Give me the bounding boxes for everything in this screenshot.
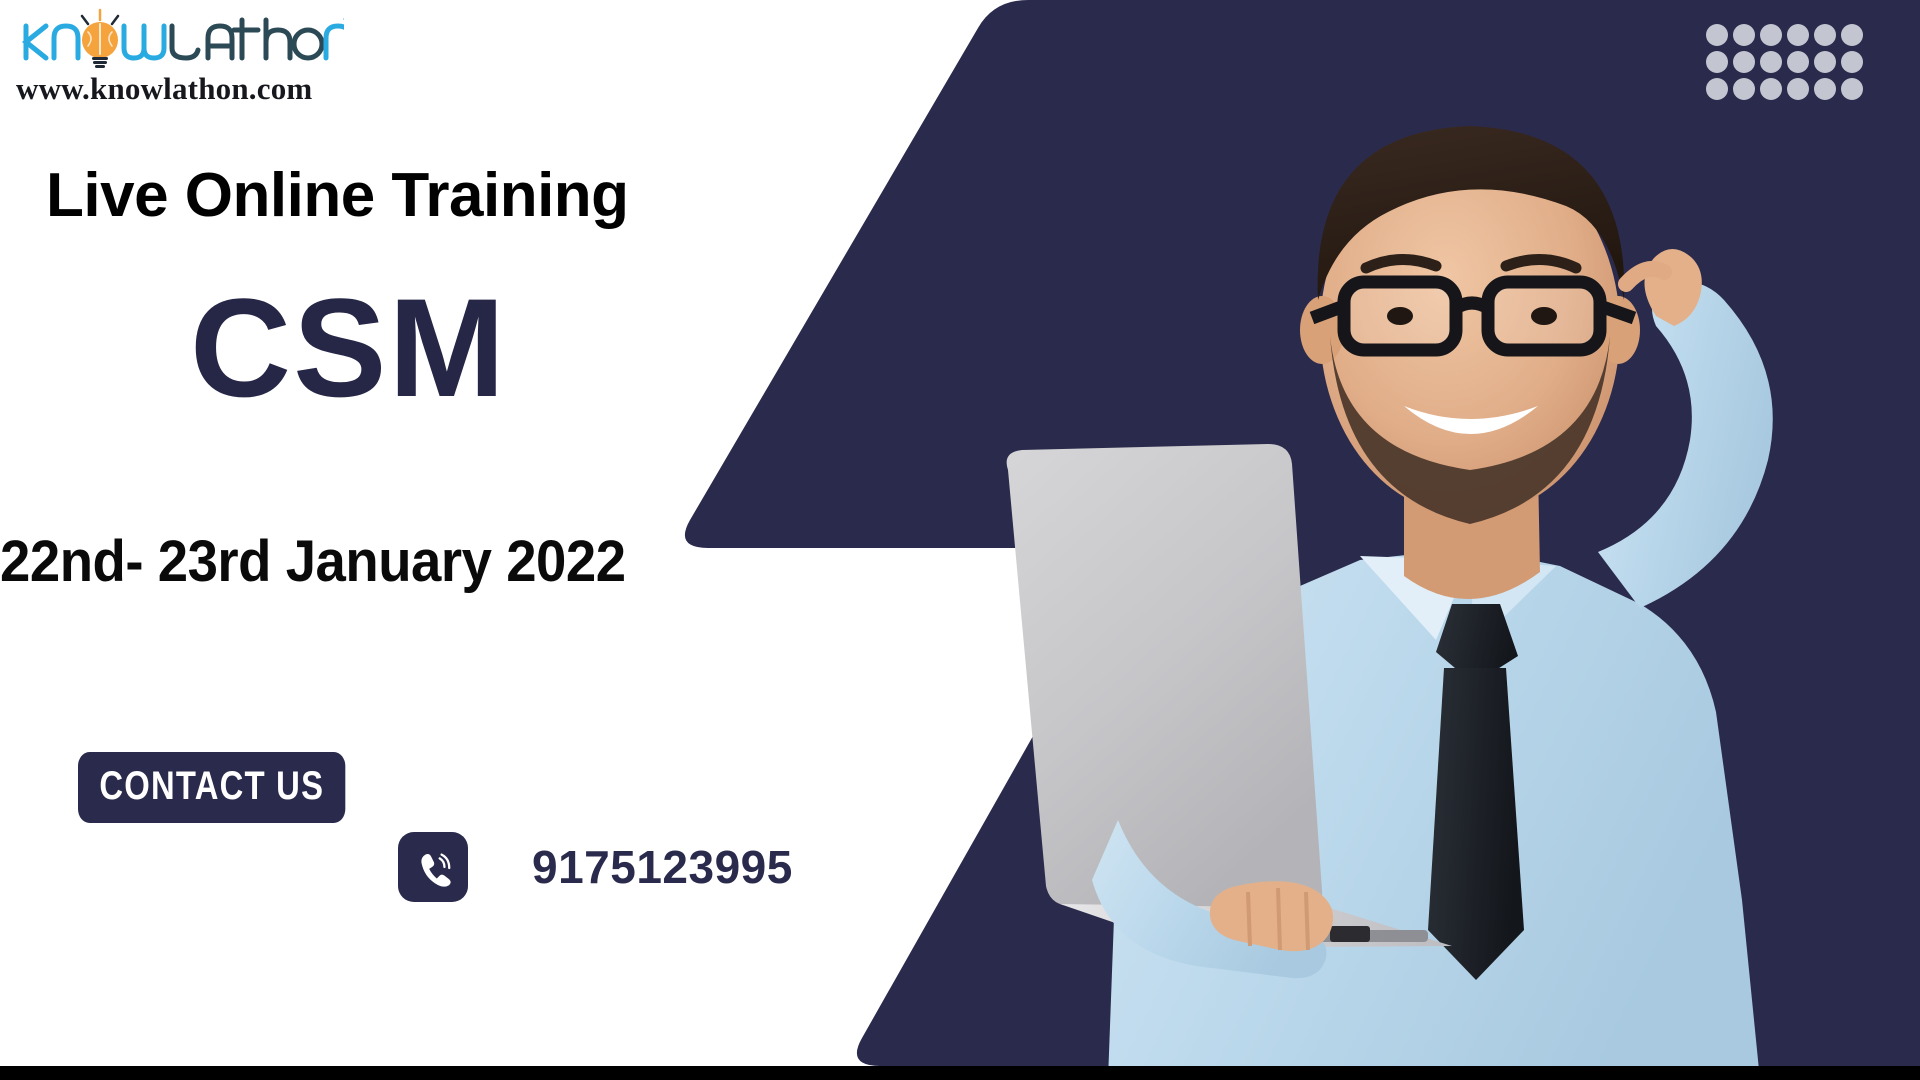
eye-left bbox=[1387, 307, 1413, 325]
finger-line bbox=[1248, 892, 1250, 946]
collar-right bbox=[1470, 560, 1556, 650]
laptop-lid bbox=[1007, 444, 1323, 910]
laptop-base bbox=[1060, 904, 1452, 948]
page-title: Live Online Training bbox=[46, 160, 629, 231]
grid-dot bbox=[1706, 51, 1728, 73]
phone-contact-row[interactable]: 9175123995 bbox=[398, 832, 793, 902]
teeth bbox=[1404, 406, 1538, 434]
brand-logo[interactable]: www.knowlathon.com bbox=[14, 8, 354, 107]
laptop-ports bbox=[1198, 930, 1428, 942]
hair bbox=[1318, 126, 1625, 300]
grid-dot bbox=[1706, 24, 1728, 46]
businessman-laptop-photo bbox=[1000, 0, 1920, 1080]
eye-right bbox=[1531, 307, 1557, 325]
brain-lightbulb-icon bbox=[82, 10, 118, 68]
ear-left bbox=[1300, 296, 1344, 364]
course-code: CSM bbox=[190, 278, 507, 418]
beard bbox=[1330, 336, 1610, 524]
grid-dot bbox=[1760, 78, 1782, 100]
finger bbox=[1626, 269, 1664, 284]
finger-line bbox=[1278, 888, 1280, 950]
grid-dot bbox=[1787, 51, 1809, 73]
grid-dot bbox=[1733, 24, 1755, 46]
grid-dot bbox=[1760, 51, 1782, 73]
shirt bbox=[1108, 548, 1760, 1080]
grid-dot bbox=[1814, 78, 1836, 100]
phone-ringing-icon[interactable] bbox=[398, 832, 468, 902]
eyebrow-right bbox=[1506, 259, 1576, 268]
grid-dot bbox=[1814, 24, 1836, 46]
tie-knot bbox=[1436, 604, 1518, 684]
event-date: 22nd- 23rd January 2022 bbox=[0, 528, 626, 595]
collar-left bbox=[1360, 556, 1470, 640]
knowlathon-wordmark bbox=[14, 8, 344, 70]
ear-right bbox=[1596, 296, 1640, 364]
arm-holding-laptop bbox=[1092, 820, 1326, 978]
eyebrow-left bbox=[1366, 259, 1436, 268]
neck bbox=[1404, 468, 1540, 599]
grid-dot bbox=[1841, 51, 1863, 73]
grid-dot bbox=[1760, 24, 1782, 46]
grid-dot bbox=[1733, 78, 1755, 100]
grid-dot bbox=[1841, 78, 1863, 100]
hand-holding-laptop bbox=[1210, 881, 1333, 951]
grid-dot bbox=[1841, 24, 1863, 46]
bottom-strip bbox=[0, 1066, 1920, 1080]
dot-grid-decoration bbox=[1706, 24, 1868, 105]
promo-banner: www.knowlathon.com Live Online Training … bbox=[0, 0, 1920, 1080]
brand-website[interactable]: www.knowlathon.com bbox=[16, 71, 354, 107]
phone-number[interactable]: 9175123995 bbox=[532, 840, 793, 894]
laptop-port-dark bbox=[1330, 926, 1370, 942]
face bbox=[1320, 144, 1620, 516]
grid-dot bbox=[1787, 24, 1809, 46]
contact-us-button[interactable]: CONTACT US bbox=[78, 752, 346, 823]
hand-at-glasses bbox=[1644, 249, 1701, 326]
grid-dot bbox=[1787, 78, 1809, 100]
grid-dot bbox=[1706, 78, 1728, 100]
eyeglasses bbox=[1312, 282, 1634, 350]
arm-raised bbox=[1598, 282, 1773, 608]
grid-dot bbox=[1733, 51, 1755, 73]
grid-dot bbox=[1814, 51, 1836, 73]
tie-body bbox=[1428, 668, 1524, 980]
finger-line bbox=[1306, 892, 1308, 950]
